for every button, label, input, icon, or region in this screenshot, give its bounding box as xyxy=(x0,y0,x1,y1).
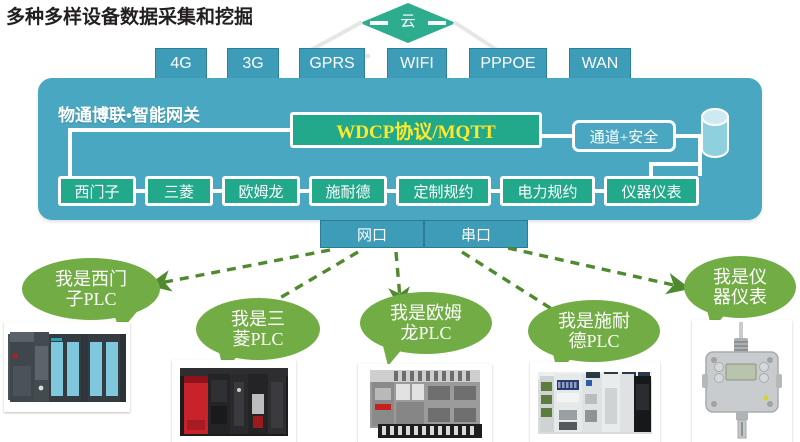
protocol-chip-instruments[interactable]: 仪器仪表 xyxy=(604,176,699,206)
bubble-line: 我是三 xyxy=(231,309,285,329)
siemens-plc-image xyxy=(4,322,130,412)
wdcp-protocol-label: WDCP协议/MQTT xyxy=(336,117,495,144)
bubble-line: 我是欧姆 xyxy=(390,303,462,323)
bubble-line: 我是西门 xyxy=(55,269,127,289)
channel-security-label: 通道+安全 xyxy=(590,126,658,147)
bubble-line: 我是施耐 xyxy=(558,311,630,331)
network-tag-3g[interactable]: 3G xyxy=(227,48,279,80)
protocol-chip-label: 仪器仪表 xyxy=(621,181,681,202)
protocol-chip-mitsubishi[interactable]: 三菱 xyxy=(145,176,213,206)
schneider-plc-image xyxy=(530,362,660,442)
protocol-chip-power[interactable]: 电力规约 xyxy=(500,176,595,206)
protocol-chip-custom[interactable]: 定制规约 xyxy=(396,176,491,206)
diagram-canvas: 多种多样设备数据采集和挖掘 云 4G 3G GPRS WIFI PPPOE WA… xyxy=(0,0,800,442)
network-tag-label: 3G xyxy=(242,55,263,73)
network-tag-label: 4G xyxy=(170,55,191,73)
protocol-chip-omron[interactable]: 欧姆龙 xyxy=(222,176,300,206)
cloud-diamond-icon xyxy=(358,1,458,45)
network-tag-gprs[interactable]: GPRS xyxy=(299,48,365,80)
port-label: 串口 xyxy=(461,224,491,245)
page-title: 多种多样设备数据采集和挖掘 xyxy=(6,2,253,29)
protocol-chip-label: 定制规约 xyxy=(413,181,473,202)
wdcp-protocol-box[interactable]: WDCP协议/MQTT xyxy=(290,112,542,148)
speech-bubble-omron: 我是欧姆 龙PLC xyxy=(360,292,492,354)
bubble-line: 器仪表 xyxy=(713,287,767,307)
network-tag-wan[interactable]: WAN xyxy=(569,48,631,80)
speech-bubble-instrument: 我是仪 器仪表 xyxy=(684,256,796,318)
network-tag-label: WIFI xyxy=(400,55,434,73)
port-ethernet[interactable]: 网口 xyxy=(320,220,424,248)
port-serial[interactable]: 串口 xyxy=(424,220,528,248)
protocol-chip-label: 欧姆龙 xyxy=(238,181,283,202)
bubble-line: 德PLC xyxy=(558,331,630,351)
speech-bubble-siemens: 我是西门 子PLC xyxy=(22,258,160,320)
port-label: 网口 xyxy=(357,224,387,245)
bubble-line: 我是仪 xyxy=(713,267,767,287)
network-tag-pppoe[interactable]: PPPOE xyxy=(469,48,547,80)
bubble-line: 子PLC xyxy=(55,289,127,309)
mitsubishi-plc-image xyxy=(172,360,296,442)
protocol-chip-label: 施耐德 xyxy=(325,181,370,202)
instrument-transmitter-image xyxy=(692,320,792,442)
protocol-chip-schneider[interactable]: 施耐德 xyxy=(309,176,387,206)
network-tag-wifi[interactable]: WIFI xyxy=(387,48,447,80)
cloud-node: 云 xyxy=(358,1,458,45)
network-tag-label: GPRS xyxy=(309,55,354,73)
network-tag-4g[interactable]: 4G xyxy=(155,48,207,80)
channel-security-box[interactable]: 通道+安全 xyxy=(572,120,676,152)
gateway-brand-label: 物通博联•智能网关 xyxy=(58,101,200,126)
protocol-chip-siemens[interactable]: 西门子 xyxy=(58,176,136,206)
protocol-chip-label: 西门子 xyxy=(74,181,119,202)
bubble-line: 龙PLC xyxy=(390,323,462,343)
protocol-chip-label: 电力规约 xyxy=(517,181,577,202)
database-cylinder-icon xyxy=(700,108,730,158)
speech-bubble-schneider: 我是施耐 德PLC xyxy=(528,300,660,362)
bubble-line: 菱PLC xyxy=(231,329,285,349)
network-tag-label: PPPOE xyxy=(480,55,535,73)
speech-bubble-mitsubishi: 我是三 菱PLC xyxy=(196,298,320,360)
protocol-chip-label: 三菱 xyxy=(164,181,194,202)
network-tag-label: WAN xyxy=(582,55,619,73)
omron-plc-image xyxy=(358,364,492,442)
